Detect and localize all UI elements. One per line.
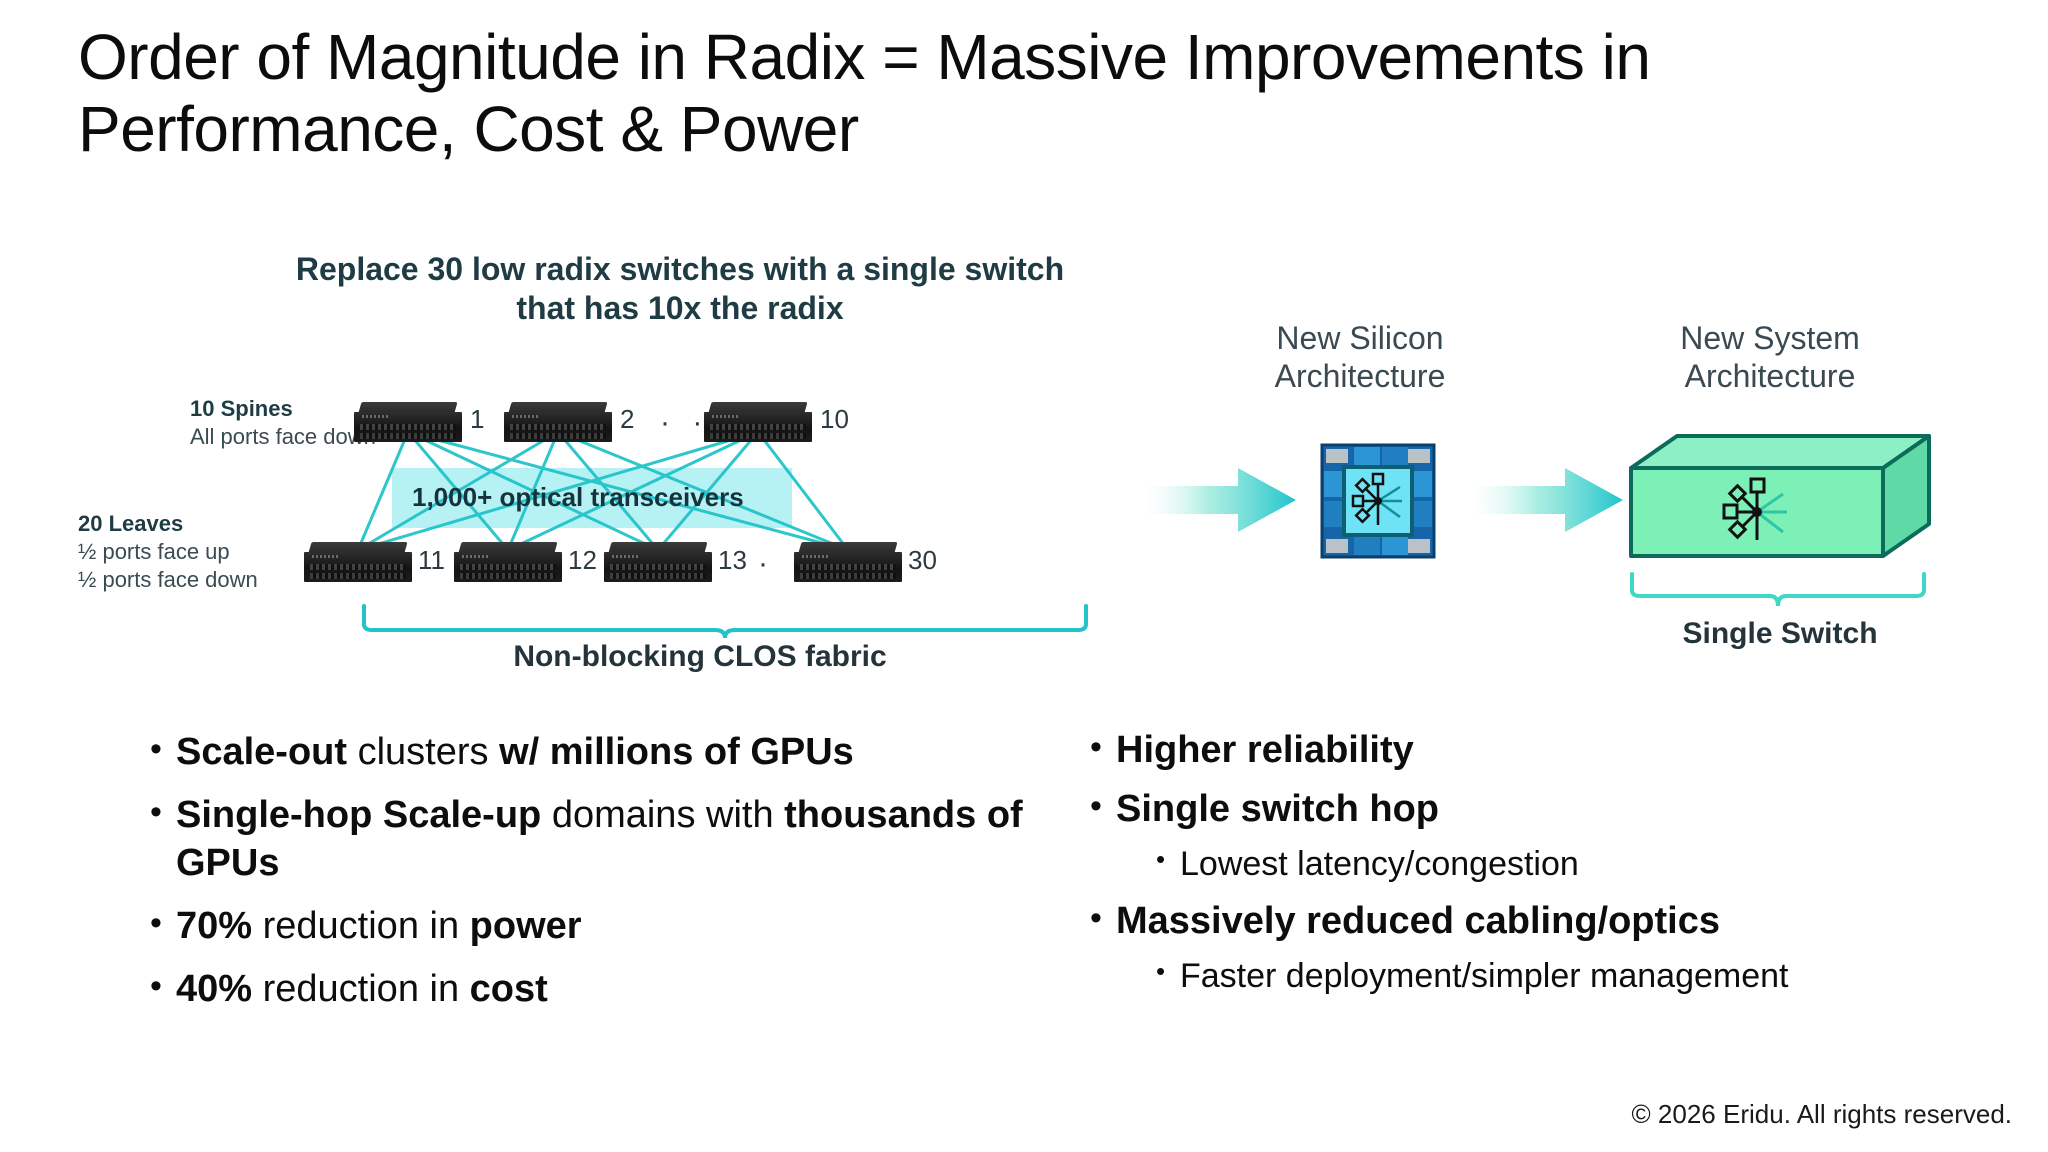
left-bullet-item: •Scale-out clusters w/ millions of GPUs [150,728,1050,777]
bullet-dot-icon: • [1156,955,1180,988]
left-bullet-text: Single-hop Scale-up domains with thousan… [176,791,1050,888]
leaf-label-12: 12 [568,545,597,576]
right-bullet-item: •Massively reduced cabling/optics [1090,897,2048,946]
left-bullet-text: 40% reduction in cost [176,965,1050,1014]
bullet-dot-icon: • [1156,843,1180,876]
chassis-face [304,552,412,582]
bullet-dot-icon: • [150,791,176,835]
bullet-dot-icon: • [150,965,176,1009]
left-bullet-text: 70% reduction in power [176,902,1050,951]
left-bullet-item: •Single-hop Scale-up domains with thousa… [150,791,1050,888]
right-bullet-text: Single switch hop [1116,785,2048,834]
spine-switch[interactable] [354,402,462,442]
bullet-dot-icon: • [1090,785,1116,829]
chassis-face [794,552,902,582]
right-bullet-item: •Single switch hop [1090,785,2048,834]
new-system-architecture-heading: New System Architecture [1600,320,1940,396]
leaf-switch[interactable] [304,542,412,582]
status-led [512,415,538,418]
spine-label-1: 1 [470,404,484,435]
spine-switch[interactable] [704,402,812,442]
left-benefits-list: •Scale-out clusters w/ millions of GPUs•… [150,728,1050,1027]
leaf-switch[interactable] [794,542,902,582]
right-bullet-item: •Faster deployment/simpler management [1156,955,2048,999]
clos-fabric-brace [360,600,1090,642]
right-arrow-icon [1465,460,1625,540]
right-benefits-list: •Higher reliability•Single switch hop•Lo… [1090,726,2048,1009]
single-switch-brace [1628,570,1928,610]
leaf-switch[interactable] [604,542,712,582]
bullet-dot-icon: • [150,728,176,772]
right-bullet-text: Massively reduced cabling/optics [1116,897,2048,946]
status-led [712,415,738,418]
bullet-dot-icon: • [1090,726,1116,770]
status-led [802,555,828,558]
status-led [612,555,638,558]
single-switch-box-icon [1625,430,1935,560]
copyright-footer: © 2026 Eridu. All rights reserved. [1632,1099,2012,1130]
chassis-face [704,412,812,442]
spine-label-10: 10 [820,404,849,435]
clos-diagram-heading: Replace 30 low radix switches with a sin… [280,250,1080,328]
status-led [362,415,388,418]
bullet-dot-icon: • [1090,897,1116,941]
asic-chip-icon [1320,443,1436,559]
new-silicon-architecture-heading: New Silicon Architecture [1210,320,1510,396]
right-bullet-text: Higher reliability [1116,726,2048,775]
transceiver-count-label: 1,000+ optical transceivers [412,482,744,513]
right-bullet-item: •Higher reliability [1090,726,2048,775]
chassis-face [354,412,462,442]
right-bullet-item: •Lowest latency/congestion [1156,843,2048,887]
leaf-label-11: 11 [418,545,445,576]
bullet-dot-icon: • [150,902,176,946]
leaf-label-30: 30 [908,545,937,576]
status-led [462,555,488,558]
right-bullet-text: Faster deployment/simpler management [1180,955,2048,999]
spine-switch[interactable] [504,402,612,442]
chassis-face [504,412,612,442]
right-bullet-text: Lowest latency/congestion [1180,843,2048,887]
clos-fabric-label: Non-blocking CLOS fabric [330,640,1070,674]
leaf-label-13: 13 [718,545,747,576]
chassis-face [604,552,712,582]
spine-label-2: 2 [620,404,634,435]
leaf-switch[interactable] [454,542,562,582]
right-arrow-icon [1138,460,1298,540]
left-bullet-text: Scale-out clusters w/ millions of GPUs [176,728,1050,777]
status-led [312,555,338,558]
single-switch-label: Single Switch [1600,617,1960,651]
chassis-face [454,552,562,582]
page-title: Order of Magnitude in Radix = Massive Im… [78,22,1878,165]
left-bullet-item: •40% reduction in cost [150,965,1050,1014]
left-bullet-item: •70% reduction in power [150,902,1050,951]
